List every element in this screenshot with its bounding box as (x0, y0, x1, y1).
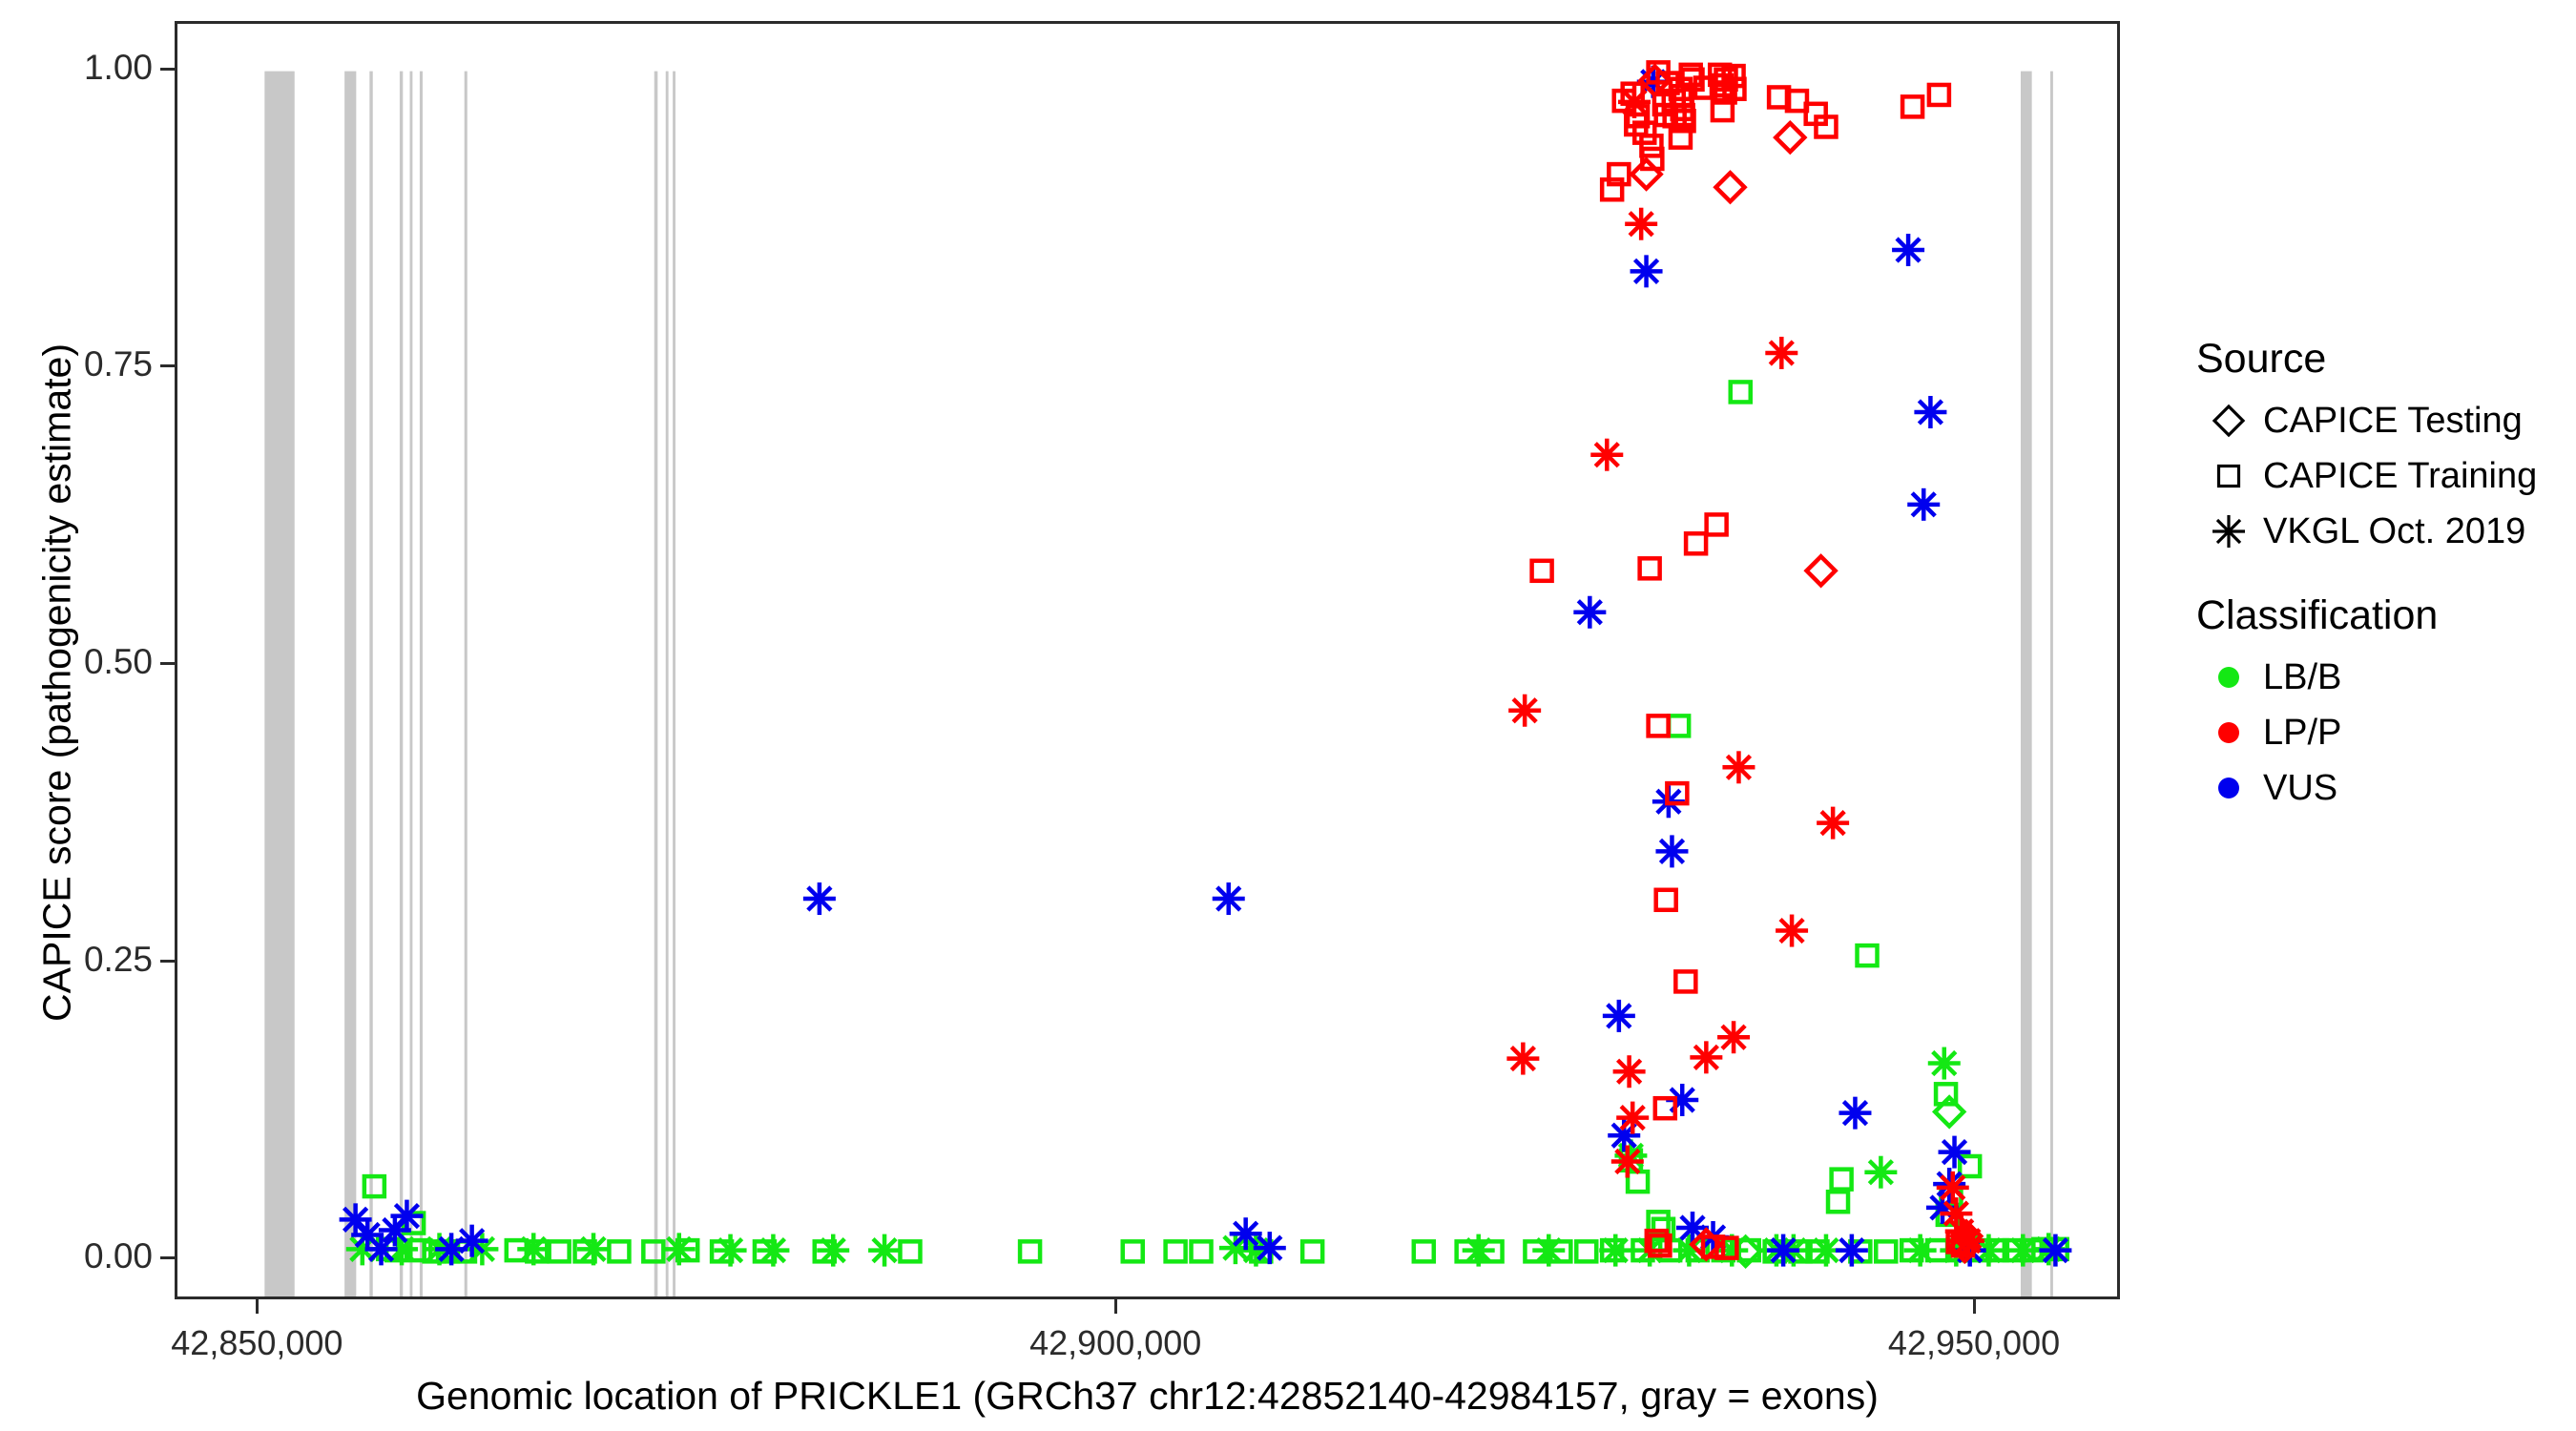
data-point-open-square (1707, 514, 1727, 534)
data-point-open-square (609, 1241, 629, 1261)
data-point-asterisk (1937, 1172, 1969, 1204)
classification-legend: ClassificationLB/BLP/PVUS (2194, 595, 2576, 816)
data-point-asterisk (1839, 1097, 1871, 1130)
data-point-asterisk (1631, 255, 1663, 287)
data-point-asterisk (868, 1234, 901, 1267)
data-point-open-square (1675, 971, 1695, 991)
data-point-asterisk (663, 1233, 696, 1265)
open-diamond-icon (2194, 393, 2263, 448)
data-point-open-square (1628, 1172, 1648, 1192)
data-point-asterisk (1892, 234, 1924, 266)
data-point-asterisk (1213, 882, 1245, 915)
data-point-asterisk (715, 1234, 747, 1267)
data-point-asterisk (1463, 1234, 1495, 1267)
data-point-asterisk (2212, 515, 2245, 548)
filled-circle-icon (2194, 650, 2263, 705)
data-point-open-square (1532, 561, 1552, 581)
data-point-asterisk (817, 1234, 849, 1267)
exon-band (654, 72, 658, 1296)
data-point-open-square (1669, 715, 1689, 736)
data-point-asterisk (1603, 1000, 1635, 1032)
y-tick-mark (160, 364, 175, 367)
data-point-asterisk (1590, 439, 1623, 471)
data-point-open-square (550, 1241, 570, 1261)
legend-item-label: VKGL Oct. 2019 (2263, 513, 2525, 550)
exon-band (369, 72, 372, 1296)
data-point-asterisk (1717, 1021, 1750, 1053)
data-point-open-diamond (1715, 173, 1744, 201)
data-point-open-square (1641, 135, 1661, 156)
capice-prickle1-scatter-figure: 0.000.250.500.751.00 CAPICE score (patho… (0, 0, 2576, 1431)
data-point-open-square (1640, 558, 1660, 578)
y-axis-title: CAPICE score (pathogenicity estimate) (35, 111, 80, 1255)
legend-item-vus[interactable]: VUS (2194, 760, 2576, 816)
filled-circle-icon (2194, 760, 2263, 816)
data-point-open-diamond (1807, 556, 1836, 585)
data-point-open-square (1192, 1241, 1212, 1261)
data-point-asterisk (1655, 835, 1688, 867)
data-point-asterisk (577, 1233, 610, 1265)
legend-item-label: VUS (2263, 770, 2337, 806)
data-point-asterisk (1611, 1146, 1644, 1178)
data-point-open-diamond (2214, 406, 2243, 435)
data-point-open-square (1929, 85, 1949, 105)
data-point-asterisk (1767, 1234, 1799, 1267)
y-tick-mark (160, 960, 175, 963)
data-point-open-square (643, 1241, 663, 1261)
data-point-open-square (1123, 1241, 1143, 1261)
data-point-asterisk (1939, 1136, 1971, 1169)
y-tick-label: 1.00 (10, 50, 153, 85)
exon-band (420, 72, 423, 1296)
legend-item-capice-testing[interactable]: CAPICE Testing (2194, 393, 2576, 448)
scatter-plot-canvas (177, 24, 2117, 1296)
exon-band (409, 72, 412, 1296)
data-point-asterisk (1864, 1156, 1897, 1189)
exon-band (2050, 72, 2053, 1296)
data-point-asterisk (1928, 1047, 1961, 1080)
plot-panel (175, 21, 2120, 1299)
data-point-open-square (1166, 1241, 1186, 1261)
data-point-asterisk (517, 1233, 550, 1265)
data-point-asterisk (1532, 1234, 1565, 1267)
exon-band (2021, 72, 2032, 1296)
data-point-asterisk (1817, 807, 1849, 840)
exon-band (465, 72, 467, 1296)
legend-item-label: CAPICE Training (2263, 458, 2537, 494)
y-tick-label: 0.50 (10, 644, 153, 679)
data-point-asterisk (1952, 1225, 1984, 1257)
data-point-asterisk (1690, 1041, 1722, 1073)
source-legend: SourceCAPICE TestingCAPICE TrainingVKGL … (2194, 339, 2576, 559)
data-point-asterisk (1508, 695, 1541, 727)
legend-marker-circle (2218, 722, 2239, 743)
data-point-open-square (1302, 1241, 1322, 1261)
data-point-asterisk (1722, 751, 1755, 783)
data-point-open-square (1649, 715, 1669, 736)
data-point-asterisk (1230, 1217, 1262, 1250)
source-legend-title: Source (2196, 339, 2576, 380)
legend-marker-circle (2218, 778, 2239, 798)
y-tick-mark (160, 1256, 175, 1259)
data-point-open-square (1656, 890, 1676, 910)
series-open-square-LB-B (364, 382, 2067, 1261)
exon-band (344, 72, 356, 1296)
data-point-asterisk (365, 1233, 398, 1265)
data-point-open-square (1414, 1241, 1434, 1261)
exon-band (264, 72, 294, 1296)
classification-legend-title: Classification (2196, 595, 2576, 636)
data-point-asterisk (1907, 488, 1940, 521)
data-point-asterisk (1616, 1102, 1649, 1134)
legend-item-label: CAPICE Testing (2263, 403, 2523, 439)
data-point-asterisk (757, 1234, 789, 1267)
filled-circle-icon (2194, 705, 2263, 760)
x-tick-mark (256, 1299, 259, 1314)
data-point-asterisk (1914, 396, 1946, 428)
open-square-icon (2194, 448, 2263, 504)
data-point-open-square (1731, 382, 1751, 402)
data-point-asterisk (803, 882, 836, 915)
data-point-open-square (1858, 945, 1878, 965)
exon-band (673, 72, 675, 1296)
data-point-open-square (1876, 1241, 1896, 1261)
y-tick-label: 0.00 (10, 1238, 153, 1274)
series-asterisk-LP-P (1506, 86, 1984, 1257)
legend-item-label: LP/P (2263, 715, 2341, 751)
data-point-open-square (1902, 96, 1922, 116)
data-point-asterisk (1904, 1234, 1937, 1267)
y-tick-label: 0.25 (10, 942, 153, 977)
data-point-asterisk (1836, 1234, 1868, 1267)
data-point-asterisk (1506, 1043, 1539, 1075)
data-point-open-square (1686, 533, 1706, 553)
x-tick-label: 42,850,000 (171, 1326, 343, 1360)
data-point-open-square (1576, 1241, 1596, 1261)
data-point-open-diamond (1935, 1097, 1963, 1126)
data-point-open-diamond (1776, 123, 1804, 152)
series-asterisk-VUS (340, 66, 2072, 1267)
data-point-asterisk (1765, 337, 1797, 369)
x-tick-mark (1973, 1299, 1976, 1314)
y-tick-mark (160, 662, 175, 665)
y-tick-label: 0.75 (10, 346, 153, 382)
data-point-asterisk (2006, 1234, 2039, 1267)
legend-container: SourceCAPICE TestingCAPICE TrainingVKGL … (2194, 339, 2576, 852)
asterisk-icon (2194, 504, 2263, 559)
data-point-asterisk (1618, 86, 1651, 118)
data-point-asterisk (1613, 1055, 1646, 1088)
exon-band (400, 72, 403, 1296)
y-tick-mark (160, 68, 175, 71)
data-point-asterisk (379, 1214, 411, 1247)
data-point-asterisk (2039, 1234, 2071, 1267)
data-point-open-square (364, 1176, 384, 1196)
data-point-asterisk (1573, 596, 1606, 629)
data-point-asterisk (1776, 915, 1808, 947)
legend-item-vkgl-oct-2019[interactable]: VKGL Oct. 2019 (2194, 504, 2576, 559)
series-open-diamond-LP-P (1632, 67, 1982, 1261)
data-point-open-square (2219, 467, 2239, 487)
legend-marker-circle (2218, 667, 2239, 688)
x-tick-label: 42,900,000 (1029, 1326, 1201, 1360)
legend-item-label: LB/B (2263, 659, 2341, 695)
data-point-asterisk (1254, 1232, 1286, 1264)
data-point-open-square (900, 1241, 920, 1261)
x-axis-title: Genomic location of PRICKLE1 (GRCh37 chr… (175, 1374, 2120, 1419)
legend-item-capice-training[interactable]: CAPICE Training (2194, 448, 2576, 504)
legend-item-lp-p[interactable]: LP/P (2194, 705, 2576, 760)
legend-item-lb-b[interactable]: LB/B (2194, 650, 2576, 705)
x-tick-mark (1114, 1299, 1117, 1314)
data-point-open-square (1020, 1241, 1040, 1261)
data-point-asterisk (1599, 1234, 1631, 1267)
series-asterisk-LB-B (346, 1047, 2065, 1267)
data-point-open-square (1832, 1170, 1852, 1190)
data-point-asterisk (435, 1233, 467, 1265)
data-point-asterisk (1625, 208, 1657, 240)
exon-band (666, 72, 669, 1296)
x-tick-label: 42,950,000 (1888, 1326, 2060, 1360)
data-point-open-diamond (1632, 160, 1661, 189)
data-point-open-square (1828, 1192, 1848, 1212)
